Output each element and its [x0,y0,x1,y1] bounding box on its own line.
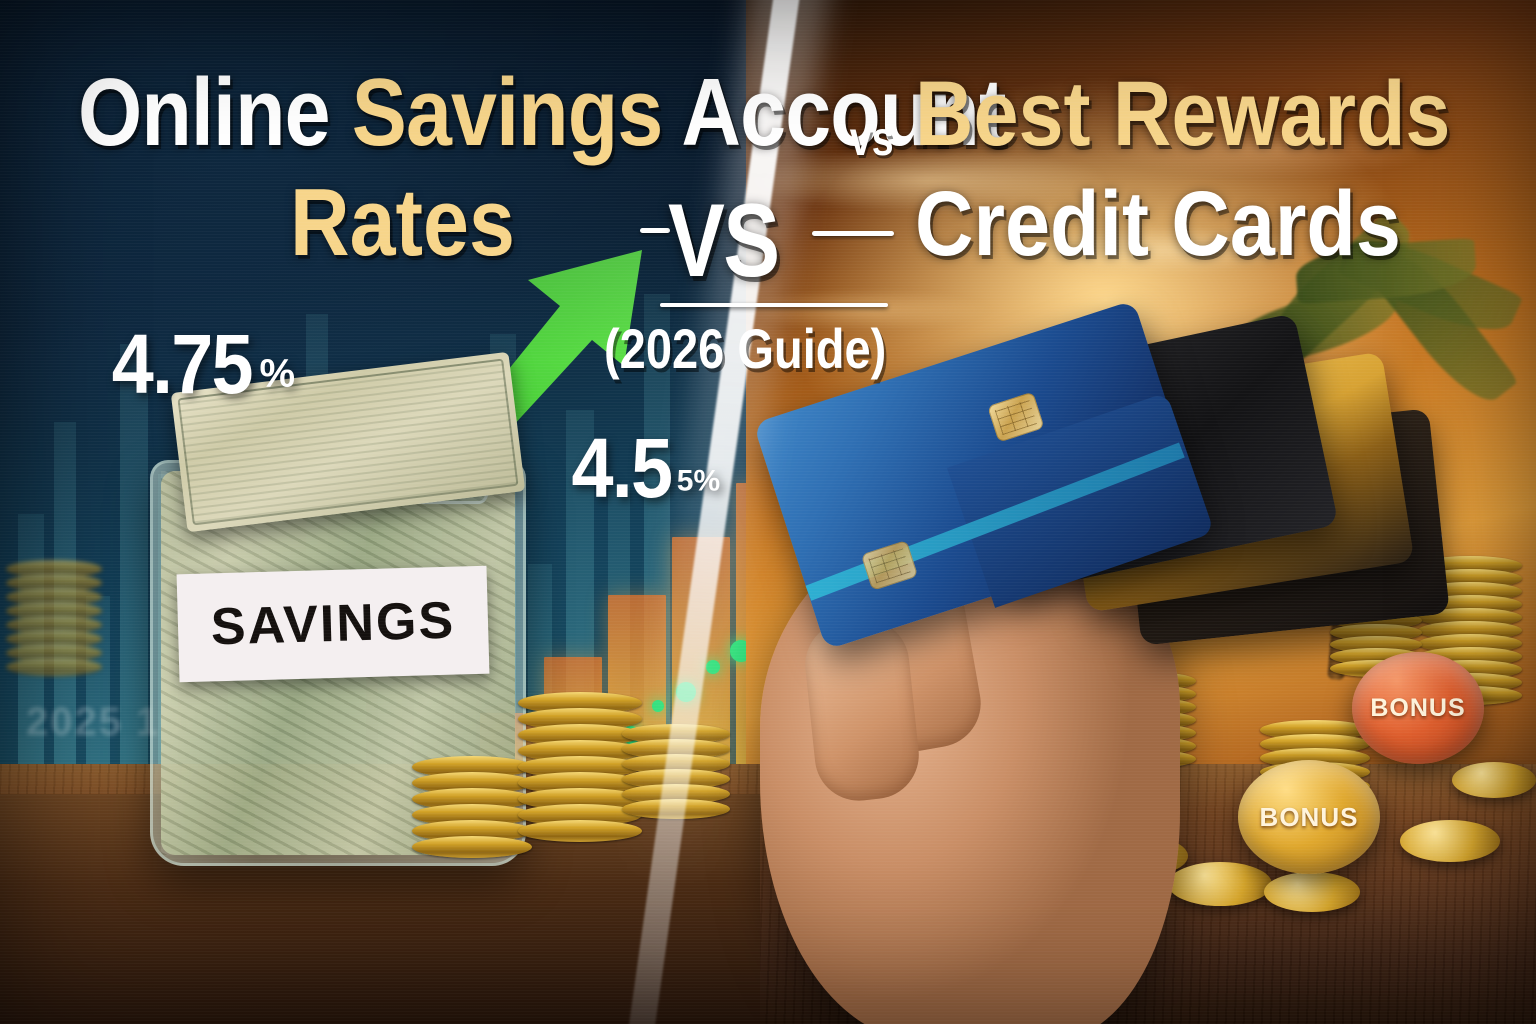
callout-savings-rate: 4.75% [104,316,295,413]
title-word-savings: Savings [352,59,663,166]
callout-savings-rate-value: 4.75 [112,316,252,413]
poster-canvas: 2025 100 SAVINGS [0,0,1536,1024]
callout-alt-rate-value: 4.5 [572,420,672,517]
bonus-coin-red: BONUS [1352,652,1484,764]
bonus-coin-gold-label: BONUS [1260,802,1359,833]
bonus-coin-red-label: BONUS [1370,694,1465,723]
loose-coin [1452,762,1536,798]
title-line-2: Rates [290,168,515,278]
vs-rule-left [640,228,670,233]
title-word-online: Online [78,59,330,166]
loose-coin [1400,820,1500,862]
title-right-line-1: Best Rewards [915,62,1450,167]
loose-coin [1168,862,1272,906]
bonus-coin-gold: BONUS [1238,760,1380,874]
title-vs-small: vs [850,112,894,167]
title-word-rates: Rates [290,169,515,276]
vs-rule-right [812,231,894,236]
callout-alt-rate-unit: % [693,465,720,498]
title-guide-year: (2026 Guide) [604,316,886,381]
savings-jar-label: SAVINGS [177,566,490,683]
savings-label-text: SAVINGS [210,591,456,658]
vs-underline [660,303,888,307]
title-right-line-2: Credit Cards [915,172,1401,277]
callout-savings-rate-unit: % [260,352,296,396]
callout-alt-rate-sup: 5 [677,465,694,498]
title-vs-big: VS [668,182,778,301]
callout-alt-rate: 4.55% [566,420,720,517]
loose-coin [1264,872,1360,912]
